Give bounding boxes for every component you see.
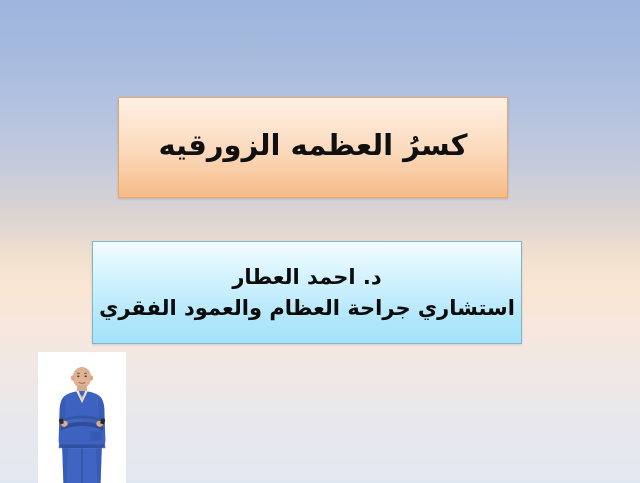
title-box: كسرُ العظمه الزورقيه <box>118 97 508 198</box>
presentation-slide: كسرُ العظمه الزورقيه د. احمد العطار استش… <box>0 0 640 483</box>
slide-title: كسرُ العظمه الزورقيه <box>158 130 467 166</box>
presenter-role: استشاري جراحة العظام والعمود الفقري <box>99 296 515 320</box>
doctor-photo-frame <box>38 352 126 483</box>
doctor-photo <box>38 352 126 483</box>
presenter-name: د. احمد العطار <box>232 265 381 289</box>
presenter-box: د. احمد العطار استشاري جراحة العظام والع… <box>92 241 522 344</box>
